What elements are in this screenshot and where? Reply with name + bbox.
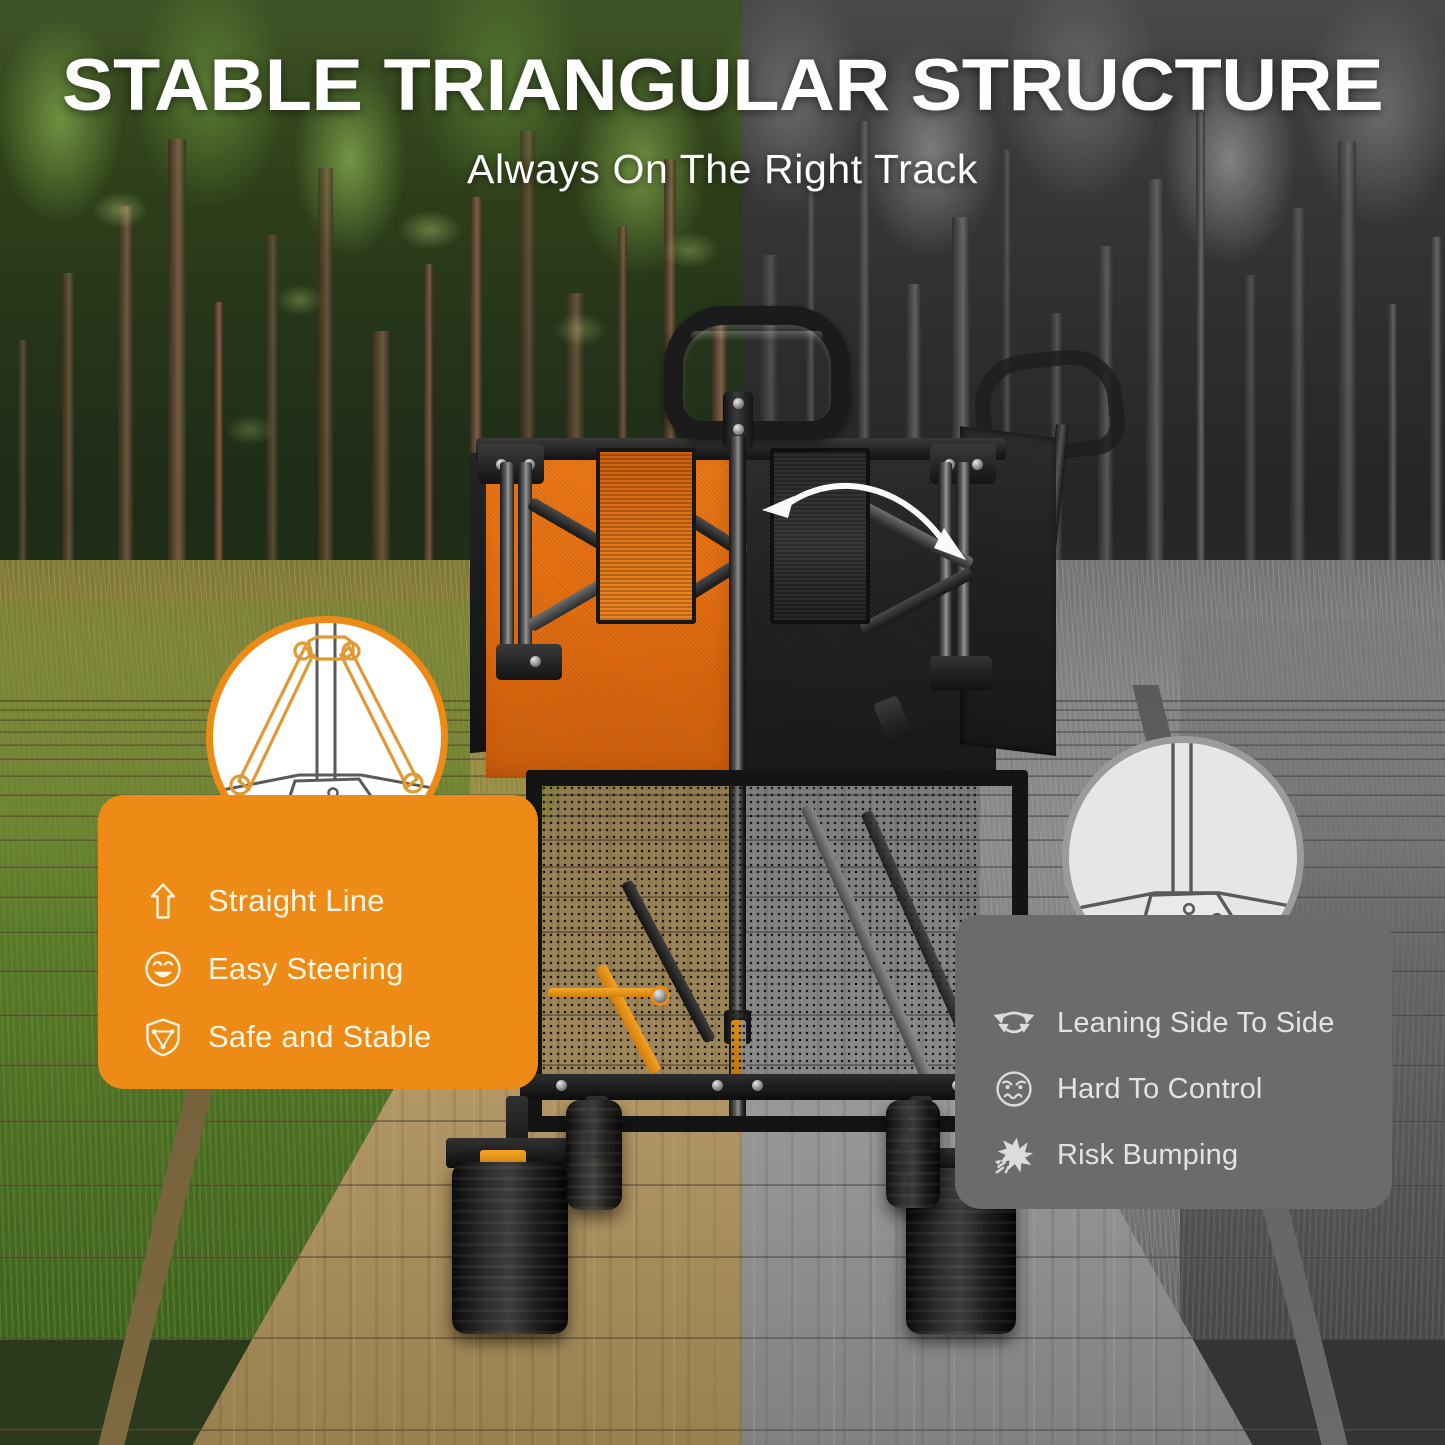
rivet: [752, 1080, 763, 1091]
bed-strut-orange-horizontal: [548, 988, 656, 997]
benefit-item-safe-stable: Safe and Stable: [98, 1003, 538, 1071]
rivet: [733, 424, 744, 435]
wagon-handle-grip: [664, 306, 850, 440]
strut-pivot-orange: [650, 986, 670, 1006]
drawback-label: Hard To Control: [1057, 1073, 1263, 1106]
drawback-label: Leaning Side To Side: [1057, 1007, 1335, 1040]
burst-impact-icon: [991, 1132, 1037, 1178]
benefit-item-straight-line: Straight Line: [98, 867, 538, 935]
drawback-item-risk-bumping: Risk Bumping: [955, 1122, 1392, 1188]
rivet: [712, 1080, 723, 1091]
benefit-label: Safe and Stable: [208, 1019, 432, 1055]
smiley-face-icon: [140, 946, 186, 992]
rivet: [733, 398, 744, 409]
drawback-item-leaning: Leaning Side To Side: [955, 990, 1392, 1056]
wheel-rear-left: [566, 1100, 622, 1210]
basket-post-left: [500, 462, 514, 658]
rivet: [556, 1080, 567, 1091]
benefit-label: Straight Line: [208, 883, 385, 919]
rivet: [530, 656, 541, 667]
drawback-item-hard-control: Hard To Control: [955, 1056, 1392, 1122]
benefit-item-easy-steering: Easy Steering: [98, 935, 538, 1003]
page-title: STABLE TRIANGULAR STRUCTURE: [0, 44, 1445, 127]
shield-triangle-icon: [140, 1014, 186, 1060]
drawbacks-list: Leaning Side To Side Hard To Control: [955, 915, 1392, 1209]
product-feature-banner: Straight Line Easy Steering: [0, 0, 1445, 1445]
wheel-front-left: [452, 1162, 568, 1334]
drawbacks-panel: Leaning Side To Side Hard To Control: [955, 915, 1392, 1209]
hinge-block-right: [930, 656, 992, 690]
strap-pocket-orange: [596, 448, 696, 624]
wobble-arrow-icon: [752, 466, 982, 586]
benefit-label: Easy Steering: [208, 951, 404, 987]
basket-post-left-2: [518, 462, 532, 658]
hinge-block-left: [496, 644, 562, 680]
benefits-panel: Straight Line Easy Steering: [98, 795, 538, 1089]
worried-face-icon: [991, 1066, 1037, 1112]
wheel-rear-right: [886, 1100, 940, 1208]
page-subtitle: Always On The Right Track: [0, 146, 1445, 193]
double-arrow-arc-icon: [991, 1000, 1037, 1046]
drawback-label: Risk Bumping: [1057, 1139, 1238, 1172]
benefits-list: Straight Line Easy Steering: [98, 795, 538, 1089]
up-arrow-icon: [140, 878, 186, 924]
